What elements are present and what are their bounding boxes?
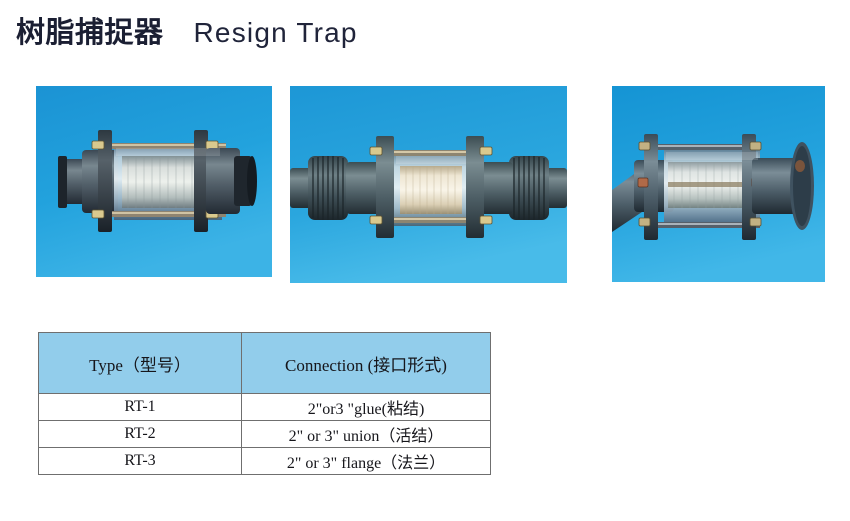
column-header-type: Type（型号） bbox=[39, 333, 242, 394]
page-title-chinese: 树脂捕捉器 bbox=[16, 18, 164, 47]
table-row: RT-2 2" or 3" union（活结） bbox=[39, 421, 491, 448]
resin-trap-glue-photo bbox=[36, 86, 272, 277]
column-header-connection: Connection (接口形式) bbox=[242, 333, 491, 394]
specification-table: Type（型号） Connection (接口形式) RT-1 2"or3 "g… bbox=[38, 332, 491, 475]
table-header-row: Type（型号） Connection (接口形式) bbox=[39, 333, 491, 394]
cell-type: RT-2 bbox=[39, 421, 242, 448]
cell-type: RT-1 bbox=[39, 394, 242, 421]
product-illustration-union bbox=[290, 86, 567, 283]
product-illustration-glue bbox=[36, 86, 272, 277]
page-title: 树脂捕捉器 Resign Trap bbox=[16, 18, 358, 64]
cell-type: RT-3 bbox=[39, 448, 242, 475]
cell-connection: 2" or 3" union（活结） bbox=[242, 421, 491, 448]
resin-trap-union-photo bbox=[290, 86, 567, 283]
cell-connection: 2" or 3" flange（法兰） bbox=[242, 448, 491, 475]
page-title-english: Resign Trap bbox=[194, 19, 358, 47]
product-illustration-flange bbox=[612, 86, 825, 282]
cell-connection: 2"or3 "glue(粘结) bbox=[242, 394, 491, 421]
table-row: RT-3 2" or 3" flange（法兰） bbox=[39, 448, 491, 475]
resin-trap-flange-photo bbox=[612, 86, 825, 282]
table-row: RT-1 2"or3 "glue(粘结) bbox=[39, 394, 491, 421]
